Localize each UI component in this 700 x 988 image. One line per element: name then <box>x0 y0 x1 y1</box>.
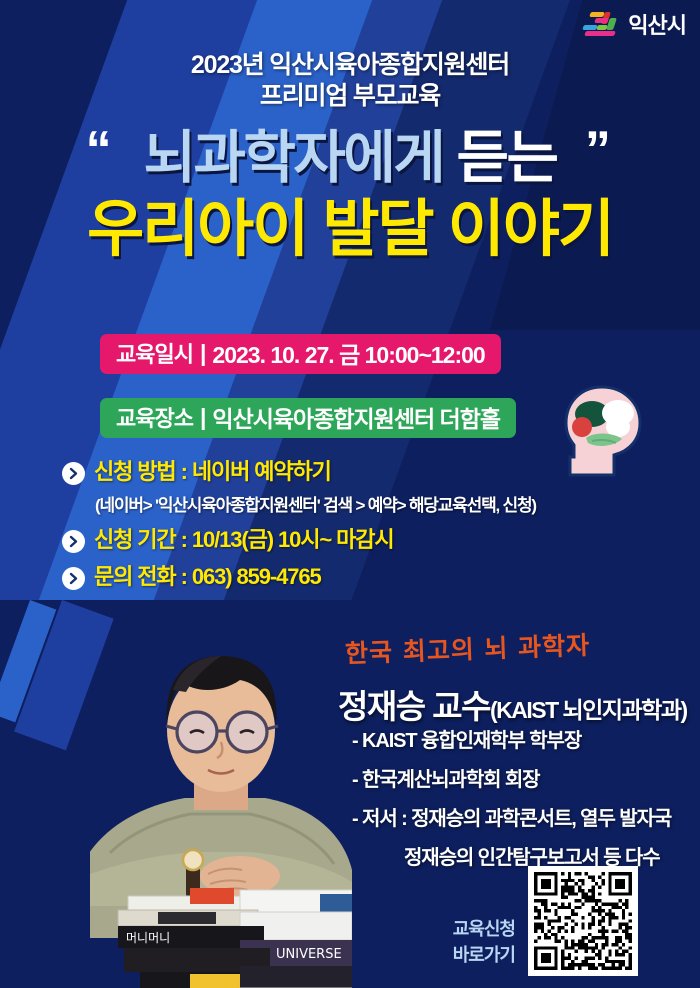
speaker-name: 정재승 교수 <box>338 688 490 725</box>
education-place-box: 교육장소 | 익산시육아종합지원센터 더함홀 <box>100 398 516 438</box>
application-method-text: 신청 방법 : 네이버 예약하기 <box>94 458 331 486</box>
kicker-line-1: 2023년 익산시육아종합지원센터 <box>0 50 700 81</box>
bio-line: - 한국계산뇌과학회 회장 <box>352 761 671 800</box>
svg-text:머니머니: 머니머니 <box>126 931 170 945</box>
kicker-line-2: 프리미엄 부모교육 <box>0 81 700 112</box>
chevron-right-icon <box>62 567 85 590</box>
list-item: 문의 전화 : 063) 859-4765 <box>62 563 662 591</box>
chevron-right-icon <box>62 462 85 485</box>
chevron-right-icon <box>62 530 85 553</box>
title-line-1-part-2: 듣는 <box>443 126 556 190</box>
speaker-affiliation: (KAIST 뇌인지과학과) <box>490 697 687 723</box>
city-logo-label: 익산시 <box>628 8 686 40</box>
qr-label-line-2: 바로가기 <box>453 942 515 968</box>
bio-line: - KAIST 융합인재학부 학부장 <box>352 722 671 761</box>
qr-code-icon[interactable] <box>534 872 632 970</box>
qr-label-line-1: 교육신청 <box>453 916 515 942</box>
education-date-value: 2023. 10. 27. 금 10:00~12:00 <box>212 336 484 370</box>
speaker-bio: - KAIST 융합인재학부 학부장 - 한국계산뇌과학회 회장 - 저서 : … <box>352 722 671 878</box>
application-info-list: 신청 방법 : 네이버 예약하기 (네이버> '익산시육아종합지원센터' 검색 … <box>62 458 662 596</box>
speaker-name-line: 정재승 교수(KAIST 뇌인지과학과) <box>338 680 687 728</box>
title-line-1: “ 뇌과학자에게 듣는 ” <box>144 130 557 187</box>
speaker-photo: 머니머니 UNIVERSE <box>0 628 352 988</box>
city-logo: 익산시 <box>581 8 686 40</box>
qr-code[interactable] <box>528 866 638 976</box>
quote-close-icon: ” <box>585 124 609 176</box>
title-line-1-part-1: 뇌과학자에게 <box>144 126 444 190</box>
education-place-value: 익산시육아종합지원센터 더함홀 <box>212 400 500 434</box>
bio-line: - 저서 : 정재승의 과학콘서트, 열두 발자국 <box>352 800 671 839</box>
inquiry-phone-text: 문의 전화 : 063) 859-4765 <box>94 563 321 591</box>
education-date-label: 교육일시 <box>116 337 193 369</box>
event-poster: 익산시 2023년 익산시육아종합지원센터 프리미엄 부모교육 “ 뇌과학자에게… <box>0 0 700 988</box>
separator: | <box>200 404 205 431</box>
quote-open-icon: “ <box>86 124 110 176</box>
list-item: 신청 기간 : 10/13(금) 10시~ 마감시 <box>62 526 662 554</box>
poster-kicker: 2023년 익산시육아종합지원센터 프리미엄 부모교육 <box>0 50 700 111</box>
education-place-label: 교육장소 <box>116 401 193 433</box>
separator: | <box>200 340 205 367</box>
iksan-city-logo-icon <box>581 9 623 39</box>
title-line-2: 우리아이 발달 이야기 <box>0 199 700 261</box>
qr-label: 교육신청 바로가기 <box>453 916 515 968</box>
poster-title: “ 뇌과학자에게 듣는 ” 우리아이 발달 이야기 <box>0 130 700 261</box>
svg-text:UNIVERSE: UNIVERSE <box>276 947 342 962</box>
application-method-subtext: (네이버> '익산시육아종합지원센터' 검색 > 예약> 해당교육선택, 신청) <box>95 491 662 516</box>
list-item: 신청 방법 : 네이버 예약하기 <box>62 458 662 486</box>
application-period-text: 신청 기간 : 10/13(금) 10시~ 마감시 <box>94 526 394 554</box>
education-date-box: 교육일시 | 2023. 10. 27. 금 10:00~12:00 <box>100 334 501 374</box>
